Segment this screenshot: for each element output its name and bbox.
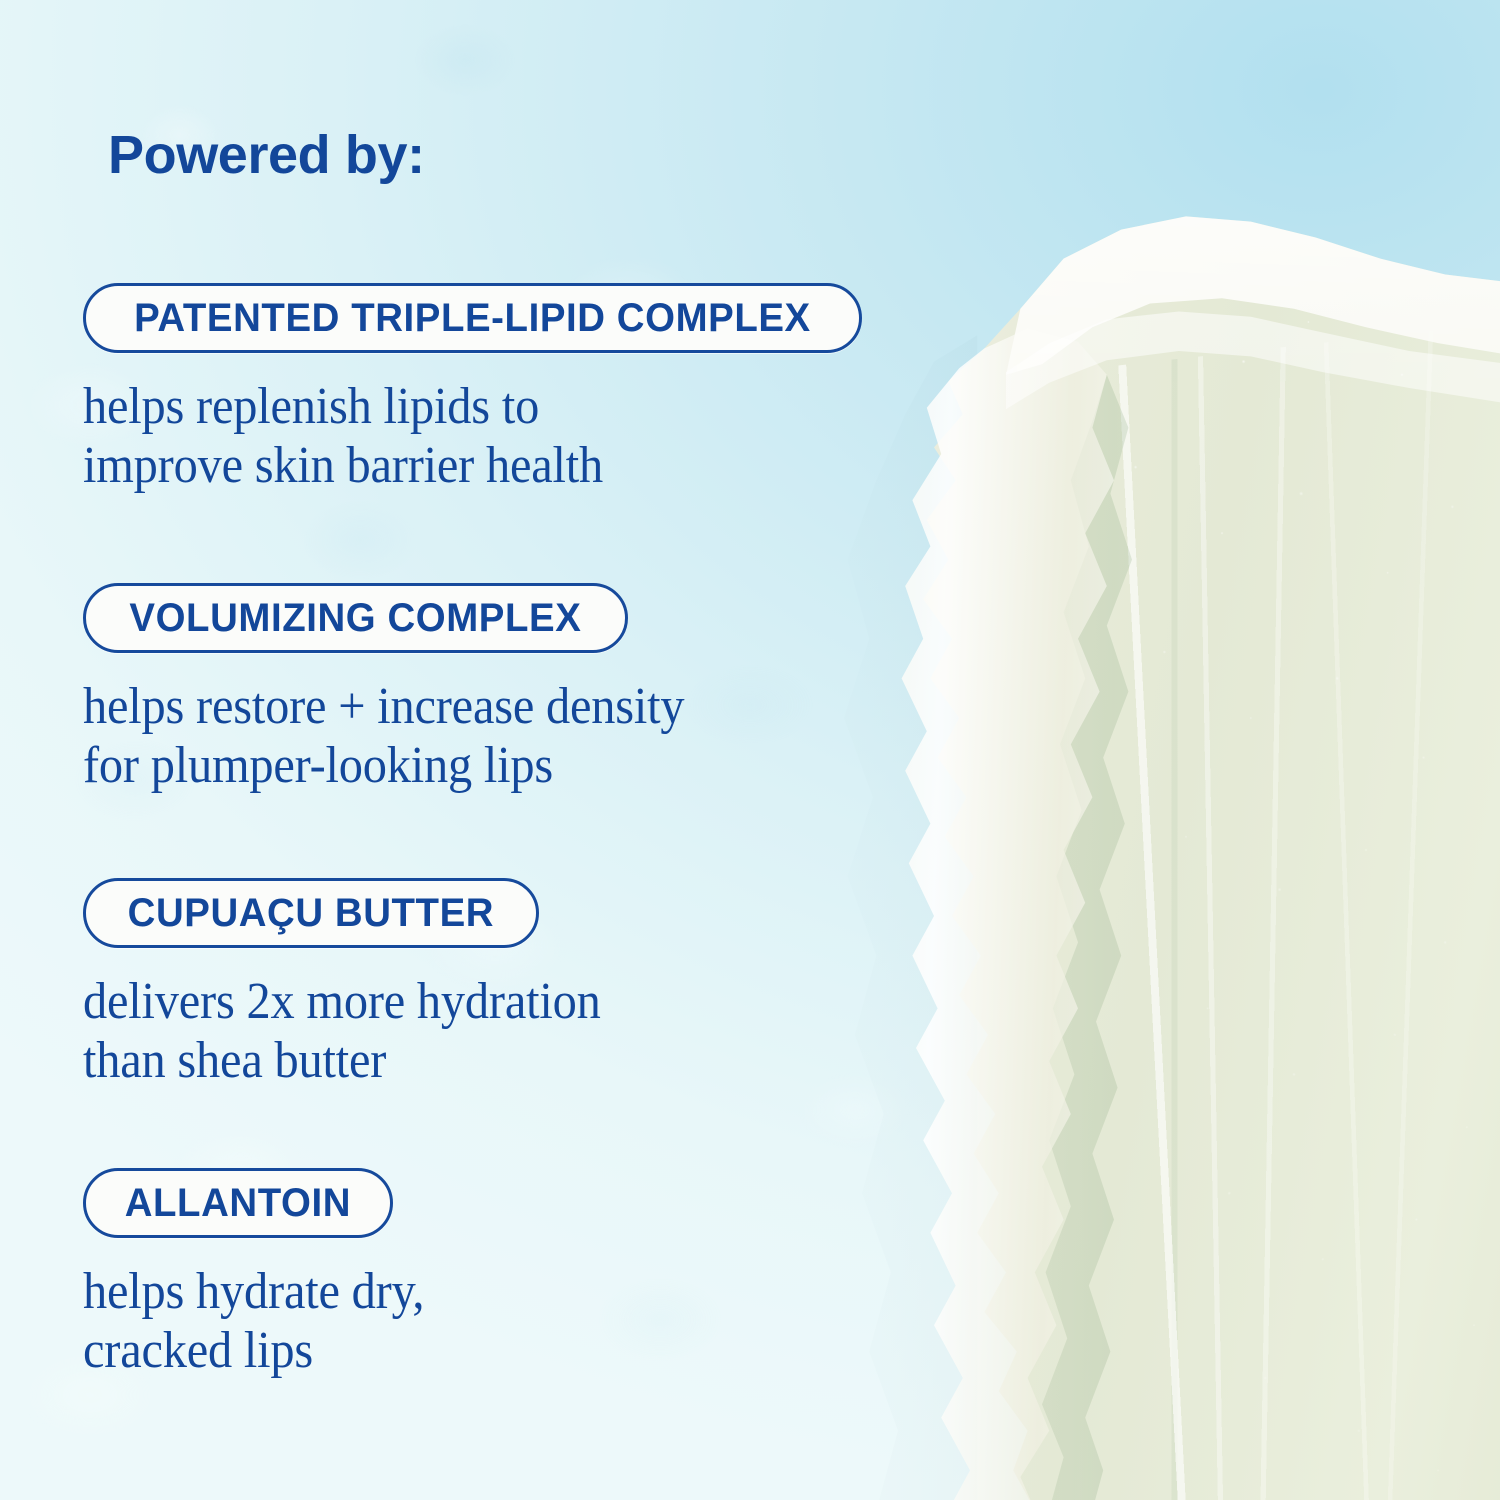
ingredient-description-line-2: than shea butter [83,1031,601,1090]
ingredient-block-0: PATENTED TRIPLE-LIPID COMPLEX helps repl… [83,283,862,496]
ingredient-block-2: CUPUAÇU BUTTER delivers 2x more hydratio… [83,878,640,1091]
ingredient-description-line-1: helps hydrate dry, [83,1262,424,1321]
ingredient-description-3: helps hydrate dry, cracked lips [83,1262,424,1381]
ingredient-description-line-2: cracked lips [83,1321,424,1380]
ingredient-description-line-2: for plumper-looking lips [83,736,684,795]
ingredient-description-2: delivers 2x more hydration than shea but… [83,972,601,1091]
ingredient-badge-label: PATENTED TRIPLE-LIPID COMPLEX [134,296,811,341]
ingredient-description-line-2: improve skin barrier health [83,436,807,495]
ingredient-description-1: helps restore + increase density for plu… [83,677,684,796]
ingredient-block-3: ALLANTOIN helps hydrate dry, cracked lip… [83,1168,450,1381]
ingredient-badge-triple-lipid-complex[interactable]: PATENTED TRIPLE-LIPID COMPLEX [83,283,862,353]
ingredient-badge-cupuacu-butter[interactable]: CUPUAÇU BUTTER [83,878,539,948]
ingredient-block-1: VOLUMIZING COMPLEX helps restore + incre… [83,583,730,796]
ingredient-description-line-1: helps replenish lipids to [83,377,807,436]
content-column: Powered by: PATENTED TRIPLE-LIPID COMPLE… [0,0,1100,1500]
ingredient-badge-allantoin[interactable]: ALLANTOIN [83,1168,393,1238]
ingredient-description-line-1: helps restore + increase density [83,677,684,736]
ingredient-badge-label: ALLANTOIN [125,1181,351,1226]
ingredient-description-0: helps replenish lipids to improve skin b… [83,377,807,496]
ingredient-badge-label: CUPUAÇU BUTTER [128,891,494,936]
ingredient-badge-volumizing-complex[interactable]: VOLUMIZING COMPLEX [83,583,628,653]
ingredient-badge-label: VOLUMIZING COMPLEX [129,596,581,641]
ingredient-description-line-1: delivers 2x more hydration [83,972,601,1031]
page-title: Powered by: [108,124,425,186]
